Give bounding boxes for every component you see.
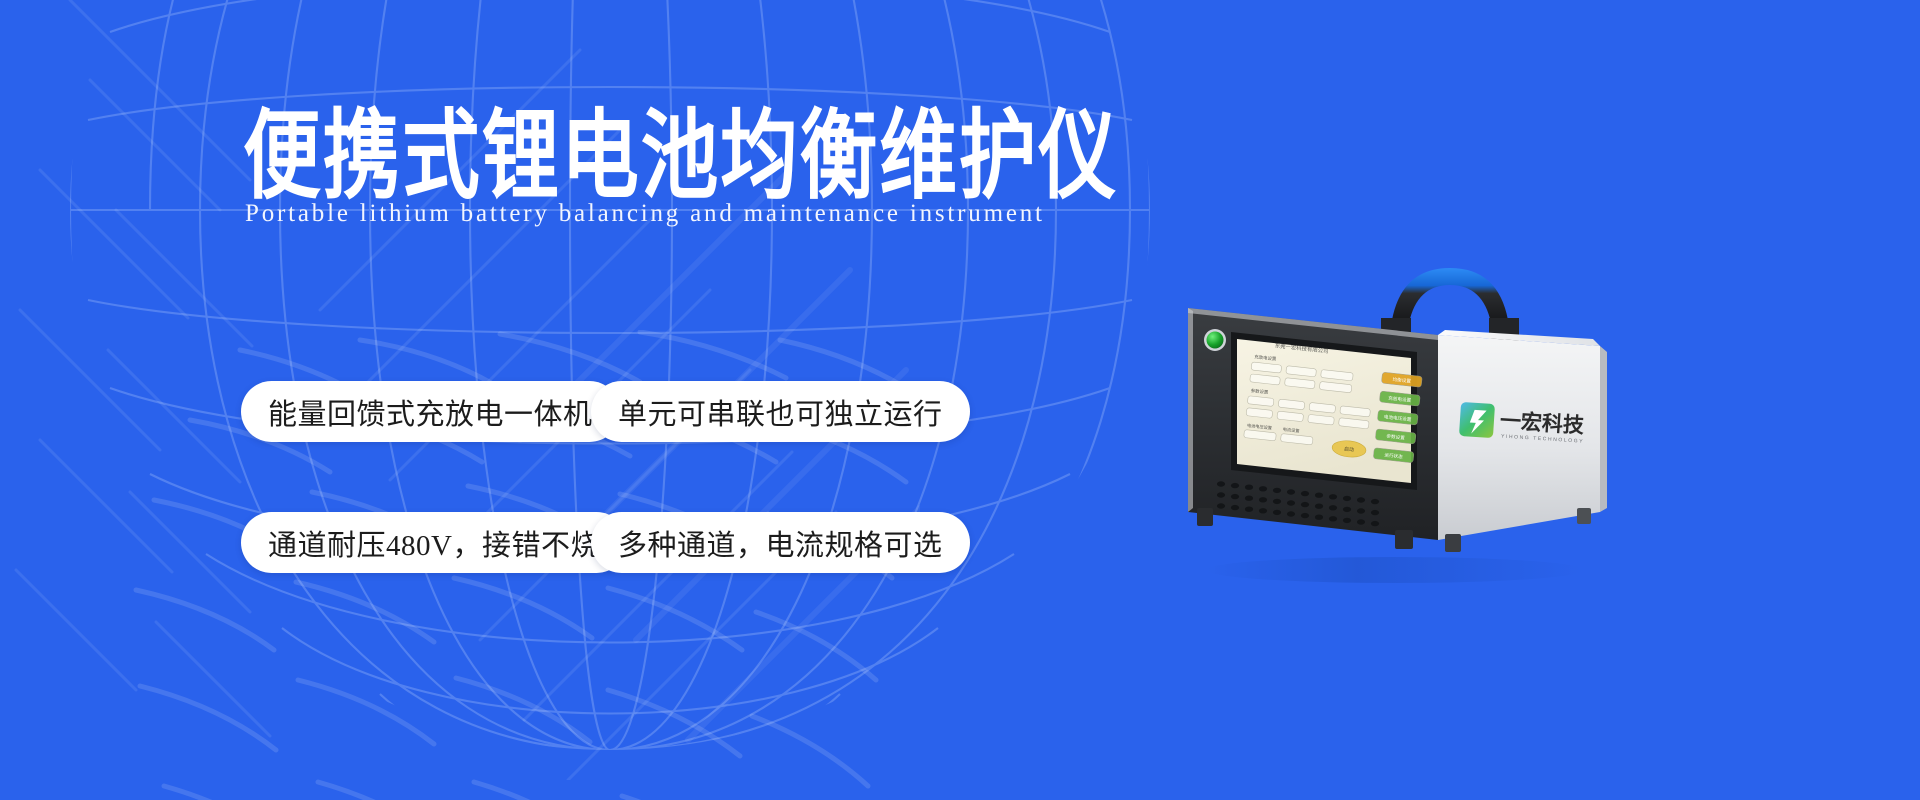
page-title: 便携式锂电池均衡维护仪: [243, 108, 1213, 206]
feature-pill-480v-withstand[interactable]: 通道耐压480V，接错不烧: [241, 512, 627, 573]
device-foot-rear: [1577, 508, 1591, 524]
device-foot-right: [1395, 530, 1413, 549]
device-foot-mid: [1445, 534, 1461, 552]
device-shadow: [1205, 557, 1585, 583]
feature-pill-channel-current-options[interactable]: 多种通道，电流规格可选: [591, 512, 970, 573]
headline-block: 便携式锂电池均衡维护仪 Portable lithium battery bal…: [243, 108, 1243, 188]
device-product-image: 一宏科技 YIHONG TECHNOLOGY 东莞一宏科技有限公司: [1145, 240, 1645, 600]
feature-pill-energy-feedback[interactable]: 能量回馈式充放电一体机: [241, 381, 620, 442]
svg-text:启动: 启动: [1344, 445, 1355, 453]
device-front-panel: 东莞一宏科技有限公司 充放电设置 参数设置: [1188, 308, 1438, 549]
device-foot-left: [1197, 508, 1213, 526]
product-banner: 便携式锂电池均衡维护仪 Portable lithium battery bal…: [0, 0, 1920, 800]
feature-pill-series-or-standalone[interactable]: 单元可串联也可独立运行: [591, 381, 970, 442]
page-subtitle: Portable lithium battery balancing and m…: [245, 200, 1045, 228]
